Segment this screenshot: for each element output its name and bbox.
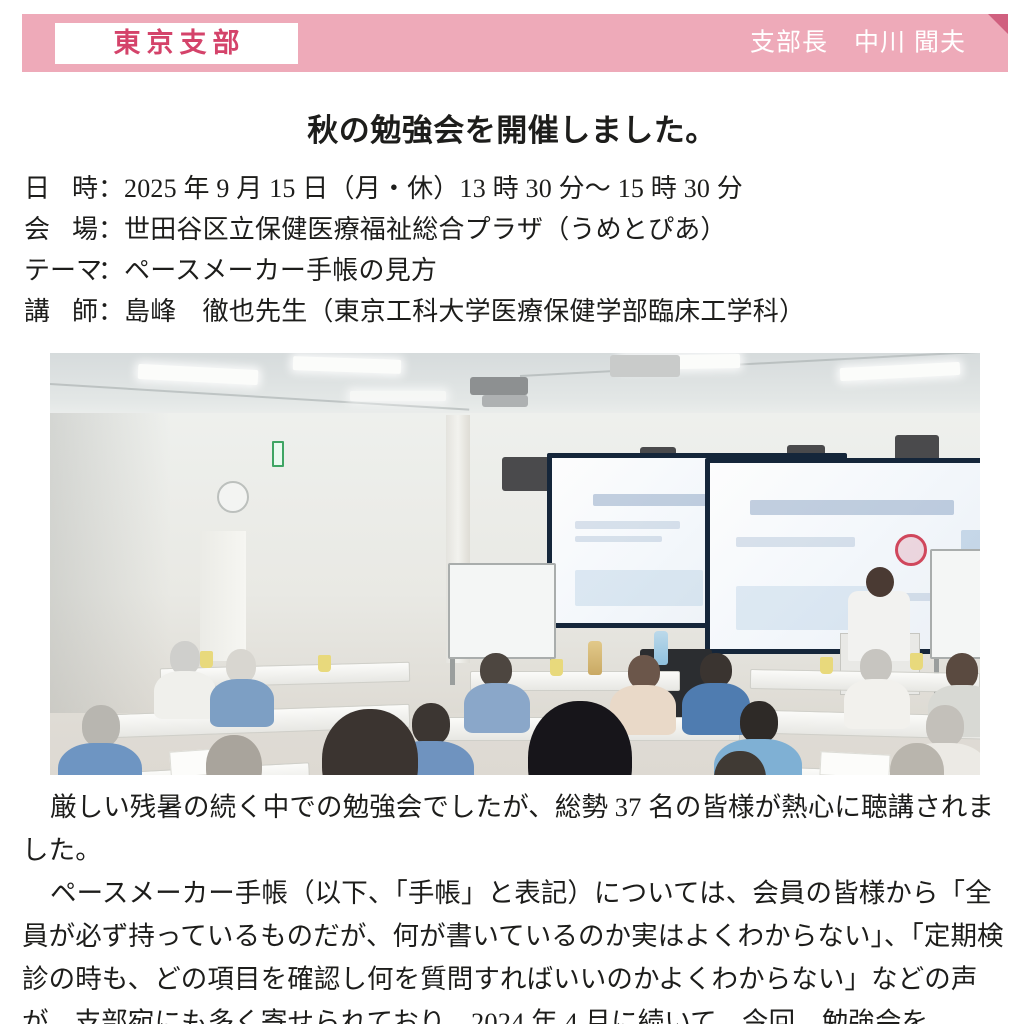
presenter-head — [866, 567, 894, 597]
handout — [819, 751, 890, 775]
attendee-head — [226, 649, 256, 683]
cup — [820, 657, 833, 674]
study-session-photo — [50, 353, 980, 775]
body-paragraph-1: 厳しい残暑の続く中での勉強会でしたが、総勢 37 名の皆様が熱心に聴講されました… — [22, 786, 1006, 872]
whiteboard-right — [930, 549, 980, 659]
wall-speaker — [502, 457, 550, 491]
cup — [550, 659, 563, 676]
newsletter-page: 東京支部 支部長 中川 聞夫 秋の勉強会を開催しました。 日 時 ： 2025 … — [0, 0, 1024, 1024]
detail-label-char-b: 師 — [72, 291, 98, 332]
detail-colon-theme: ： — [98, 250, 124, 291]
detail-row-theme: テーマ ： ペースメーカー手帳の見方 — [24, 250, 1000, 291]
attendee-head-foreground — [206, 735, 262, 775]
attendee-body — [58, 743, 142, 775]
branch-header-banner: 東京支部 支部長 中川 聞夫 — [22, 14, 1008, 72]
wall-shading — [50, 413, 170, 713]
projector-secondary — [610, 355, 680, 377]
cup — [318, 655, 331, 672]
detail-value-lecturer: 島峰 徹也先生（東京工科大学医療保健学部臨床工学科） — [124, 291, 805, 332]
detail-label-char-b: 時 — [72, 168, 98, 209]
attendee-head — [412, 703, 450, 745]
attendee-head — [946, 653, 978, 689]
whiteboard-leg — [450, 659, 455, 685]
attendee-head — [740, 701, 778, 743]
article-body: 厳しい残暑の続く中での勉強会でしたが、総勢 37 名の皆様が熱心に聴講されました… — [22, 786, 1006, 1024]
detail-row-lecturer: 講 師 ： 島峰 徹也先生（東京工科大学医療保健学部臨床工学科） — [24, 291, 1000, 332]
cup — [910, 653, 923, 670]
attendee-body — [210, 679, 274, 727]
attendee-head — [628, 655, 660, 689]
detail-label-datetime: 日 時 — [24, 168, 98, 209]
corner-fold-icon — [988, 14, 1008, 34]
slide-text-bar — [736, 537, 855, 546]
wall-clock — [217, 481, 249, 513]
attendee-head — [82, 705, 120, 747]
projector-lens — [482, 395, 528, 407]
detail-colon-datetime: ： — [98, 168, 124, 209]
attendee-body — [154, 671, 216, 719]
attendee-head — [700, 653, 732, 687]
slide-diagram-circle — [895, 534, 927, 566]
detail-row-datetime: 日 時 ： 2025 年 9 月 15 日（月・休）13 時 30 分〜 15 … — [24, 168, 1000, 209]
emergency-exit-sign — [272, 441, 284, 467]
slide-text-bar — [575, 536, 662, 543]
detail-label-lecturer: 講 師 — [24, 291, 98, 332]
attendee-body — [464, 683, 530, 733]
detail-label-char-a: 講 — [24, 291, 50, 332]
branch-name-box: 東京支部 — [55, 23, 298, 64]
branch-chief-label: 支部長 中川 聞夫 — [750, 31, 966, 56]
whiteboard-left — [448, 563, 556, 659]
wall-panel — [200, 531, 246, 661]
detail-value-theme: ペースメーカー手帳の見方 — [124, 250, 437, 291]
detail-label-char-a: 会 — [24, 209, 50, 250]
detail-colon-venue: ： — [98, 209, 124, 250]
attendee-head — [926, 705, 964, 747]
bottle — [588, 641, 602, 675]
attendee-head — [170, 641, 200, 675]
body-paragraph-2: ペースメーカー手帳（以下、「手帳」と表記）については、会員の皆様から「全員が必ず… — [22, 872, 1006, 1024]
cup — [200, 651, 213, 668]
photo-scene — [50, 353, 980, 775]
branch-name-label: 東京支部 — [108, 30, 246, 57]
detail-label-char-a: 日 — [24, 168, 50, 209]
slide-title-bar — [750, 500, 955, 515]
attendee-body — [844, 679, 910, 729]
detail-colon-lecturer: ： — [98, 291, 124, 332]
event-details-list: 日 時 ： 2025 年 9 月 15 日（月・休）13 時 30 分〜 15 … — [24, 168, 1000, 332]
detail-value-venue: 世田谷区立保健医療福祉総合プラザ（うめとぴあ） — [124, 209, 727, 250]
detail-row-venue: 会 場 ： 世田谷区立保健医療福祉総合プラザ（うめとぴあ） — [24, 209, 1000, 250]
attendee-head — [480, 653, 512, 687]
page-title: 秋の勉強会を開催しました。 — [0, 105, 1024, 150]
attendee-head — [860, 649, 892, 683]
detail-label-theme: テーマ — [24, 250, 98, 291]
detail-label-char-b: 場 — [72, 209, 98, 250]
detail-value-datetime: 2025 年 9 月 15 日（月・休）13 時 30 分〜 15 時 30 分 — [124, 168, 743, 209]
slide-image-block — [575, 570, 703, 606]
slide-text-bar — [575, 521, 679, 529]
detail-label-venue: 会 場 — [24, 209, 98, 250]
projector — [470, 377, 528, 395]
ceiling-light — [350, 391, 446, 401]
